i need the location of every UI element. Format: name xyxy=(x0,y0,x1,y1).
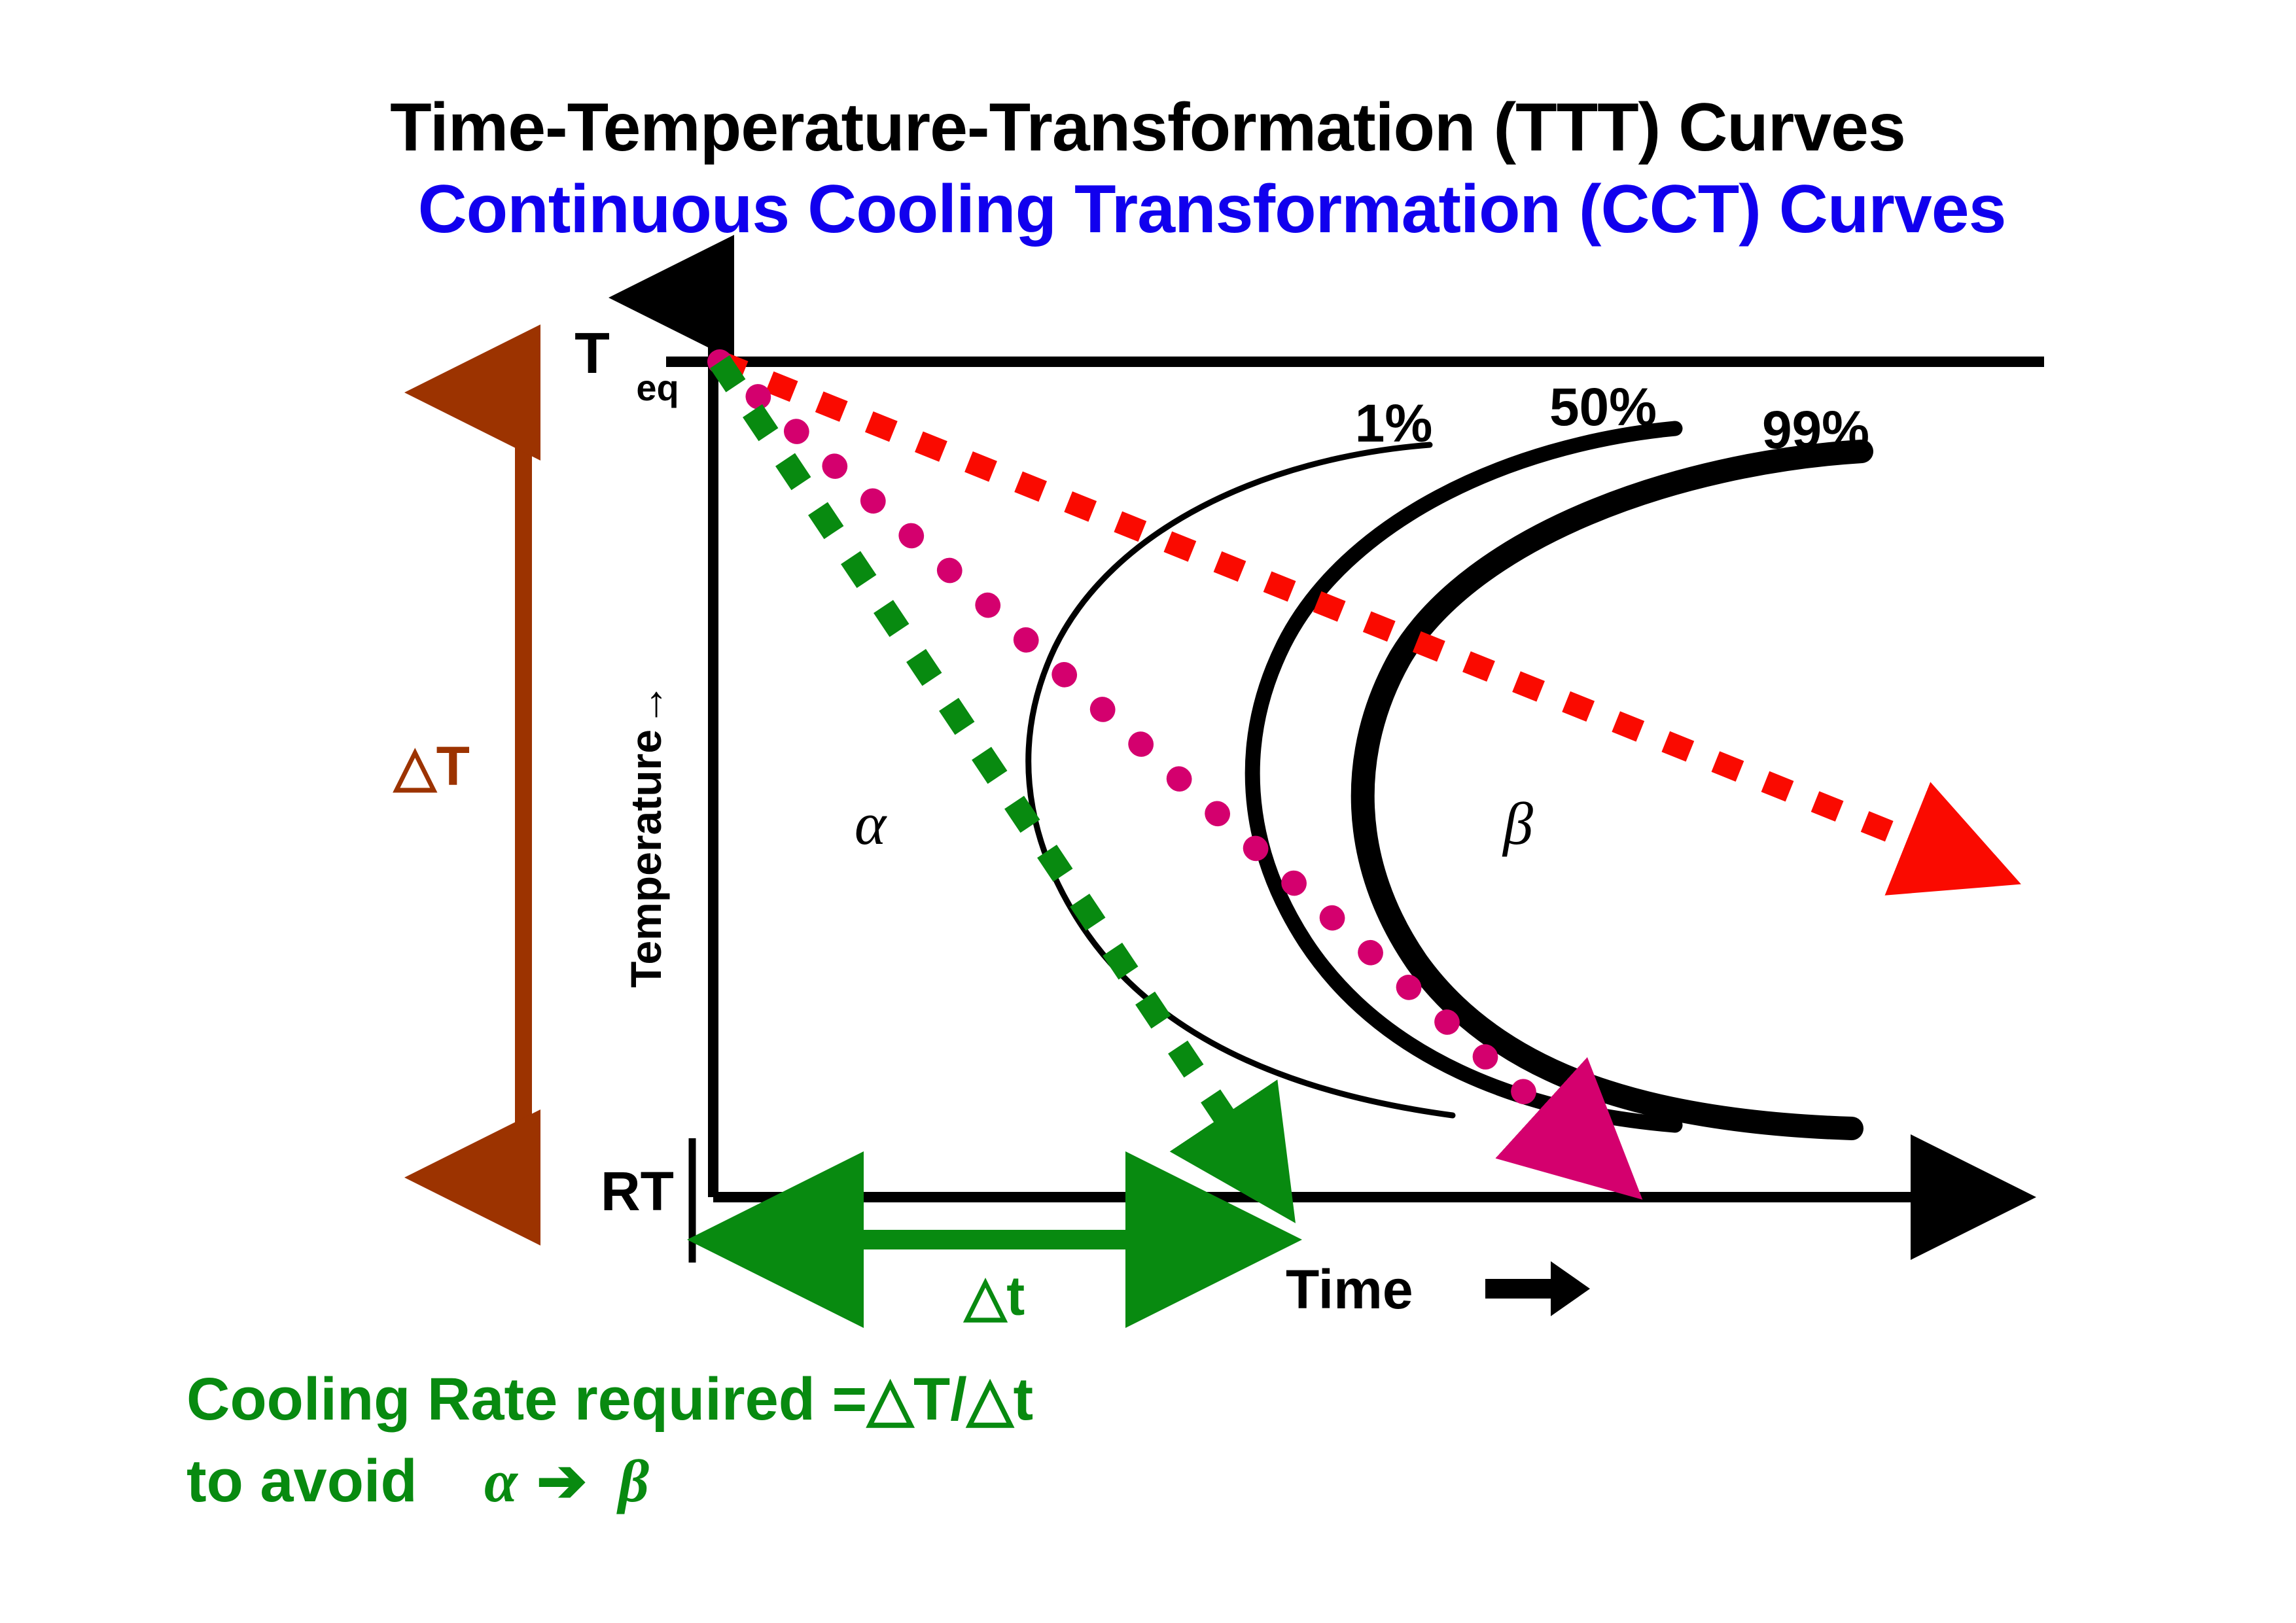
phase-label-beta: β xyxy=(1502,790,1533,857)
caption-arrow-icon: ➔ xyxy=(537,1448,587,1514)
ttt-curve-1pct xyxy=(1029,445,1453,1115)
page-title-ttt: Time-Temperature-Transformation (TTT) Cu… xyxy=(390,90,1905,166)
curve-label-50pct: 50% xyxy=(1549,377,1657,437)
teq-label-subscript: eq xyxy=(636,367,679,408)
caption-line-2: to avoid α ➔ β xyxy=(186,1448,649,1514)
teq-axis-label: T eq xyxy=(574,321,679,408)
ttt-cct-diagram: Time-Temperature-Transformation (TTT) Cu… xyxy=(0,0,2296,1623)
x-axis-title-arrow-icon xyxy=(1485,1261,1590,1316)
caption-line-2-prefix: to avoid xyxy=(186,1448,417,1514)
curve-label-99pct: 99% xyxy=(1762,400,1869,460)
delta-time-label: △t xyxy=(963,1265,1025,1327)
y-axis-title-arrow-icon: → xyxy=(624,683,673,726)
phase-label-alpha: α xyxy=(855,790,887,857)
curve-label-1pct: 1% xyxy=(1355,394,1433,453)
caption-line-1: Cooling Rate required =△T/△t xyxy=(186,1366,1033,1433)
page-title-cct: Continuous Cooling Transformation (CCT) … xyxy=(418,171,2006,247)
slide-canvas: Time-Temperature-Transformation (TTT) Cu… xyxy=(0,0,2296,1623)
y-axis-title: Temperature → xyxy=(622,683,673,988)
x-axis-title-text: Time xyxy=(1286,1259,1413,1320)
y-axis-title-text: Temperature xyxy=(622,729,670,988)
delta-temperature-label: △T xyxy=(393,735,470,797)
caption-alpha: α xyxy=(484,1448,519,1514)
caption-beta: β xyxy=(616,1448,649,1514)
teq-label-main: T xyxy=(574,321,610,385)
rt-axis-label: RT xyxy=(601,1161,674,1222)
